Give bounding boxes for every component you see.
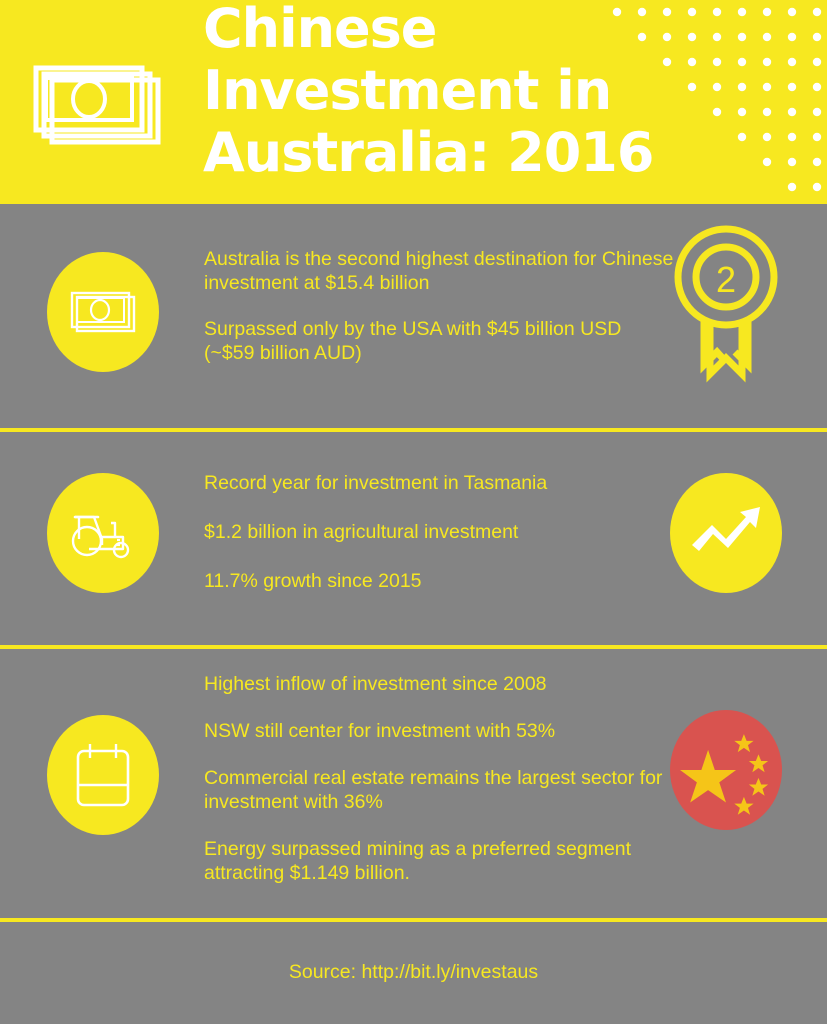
banknote-icon bbox=[68, 288, 138, 336]
section-2-text: Record year for investment in Tasmania $… bbox=[204, 471, 674, 593]
trending-up-arrow-icon-badge bbox=[670, 473, 782, 593]
divider-2 bbox=[0, 645, 827, 649]
medal-number: 2 bbox=[716, 259, 736, 300]
banknote-icon-badge bbox=[47, 252, 159, 372]
divider-3 bbox=[0, 918, 827, 922]
section-2-line-3: 11.7% growth since 2015 bbox=[204, 569, 674, 593]
section-investment-rank: Australia is the second highest destinat… bbox=[0, 200, 827, 428]
tractor-icon bbox=[67, 505, 139, 561]
section-sector-breakdown: Highest inflow of investment since 2008 … bbox=[0, 650, 827, 918]
dot-grid-decoration bbox=[607, 0, 827, 200]
section-2-line-2: $1.2 billion in agricultural investment bbox=[204, 520, 674, 544]
header-banner: Chinese Investment in Australia: 2016 bbox=[0, 0, 827, 200]
china-flag-icon-badge bbox=[670, 710, 782, 830]
tractor-icon-badge bbox=[47, 473, 159, 593]
medal-second-place-icon: 2 bbox=[664, 222, 789, 387]
footer: Source: http://bit.ly/investaus bbox=[0, 923, 827, 1024]
calendar-icon-badge bbox=[47, 715, 159, 835]
section-1-line-1: Australia is the second highest destinat… bbox=[204, 247, 674, 295]
section-1-text: Australia is the second highest destinat… bbox=[204, 247, 674, 365]
section-tasmania-agriculture: Record year for investment in Tasmania $… bbox=[0, 433, 827, 645]
infographic-page: Chinese Investment in Australia: 2016 Au… bbox=[0, 0, 827, 1024]
section-3-text: Highest inflow of investment since 2008 … bbox=[204, 672, 674, 885]
banknote-stack-icon bbox=[30, 62, 170, 157]
section-3-line-2: NSW still center for investment with 53% bbox=[204, 719, 674, 743]
calendar-icon bbox=[70, 740, 136, 810]
trending-up-arrow-icon bbox=[686, 501, 766, 565]
divider-1 bbox=[0, 428, 827, 432]
section-3-line-3: Commercial real estate remains the large… bbox=[204, 766, 674, 814]
section-3-line-1: Highest inflow of investment since 2008 bbox=[204, 672, 674, 696]
china-flag-icon bbox=[670, 710, 782, 830]
section-3-line-4: Energy surpassed mining as a preferred s… bbox=[204, 837, 674, 885]
source-link[interactable]: Source: http://bit.ly/investaus bbox=[0, 961, 827, 984]
section-2-line-1: Record year for investment in Tasmania bbox=[204, 471, 674, 495]
section-1-line-2: Surpassed only by the USA with $45 billi… bbox=[204, 317, 674, 365]
